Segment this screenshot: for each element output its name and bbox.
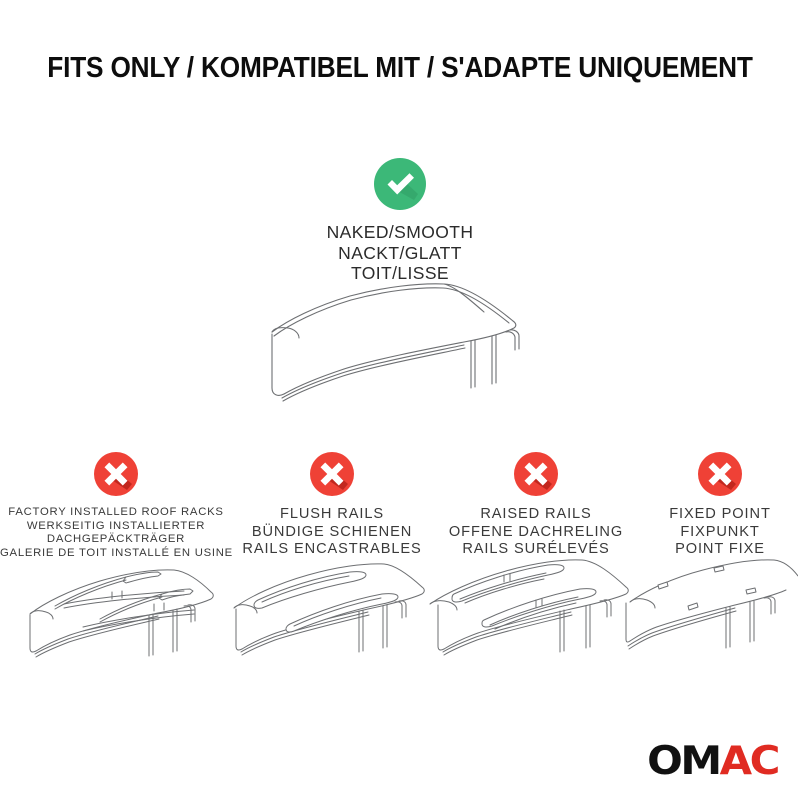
logo-text-om: OM: [647, 738, 720, 784]
omac-logo: OMAC: [647, 741, 778, 780]
compatible-label-line-1: NAKED/SMOOTH: [0, 222, 800, 243]
label-line-2: OFFENE DACHRELING: [432, 524, 640, 542]
logo-text-ac: AC: [720, 738, 778, 784]
car-roof-fixed-point-illustration: [618, 548, 798, 723]
label-line-1: FACTORY INSTALLED ROOF RACKS: [0, 506, 232, 520]
incompatible-item-flush-rails: FLUSH RAILS BÜNDIGE SCHIENEN RAILS ENCAS…: [232, 452, 432, 559]
incompatible-item-fixed-point: FIXED POINT FIXPUNKT POINT FIXE: [640, 452, 800, 559]
incompatible-row: FACTORY INSTALLED ROOF RACKS WERKSEITIG …: [0, 452, 800, 560]
car-roof-smooth-illustration: [258, 276, 558, 416]
check-circle-icon: [374, 158, 426, 210]
incompatible-item-raised-rails: RAISED RAILS OFFENE DACHRELING RAILS SUR…: [432, 452, 640, 559]
car-roof-flush-rails-illustration: [216, 548, 431, 723]
compatible-labels: NAKED/SMOOTH NACKT/GLATT TOIT/LISSE: [0, 222, 800, 284]
label-line-3: DACHGEPÄCKTRÄGER: [0, 533, 232, 547]
label-line-2: BÜNDIGE SCHIENEN: [232, 524, 432, 542]
x-circle-icon: [698, 452, 742, 496]
car-roof-factory-crossbars-illustration: [8, 548, 223, 723]
label-line-2: FIXPUNKT: [640, 524, 800, 542]
label-line-2: WERKSEITIG INSTALLIERTER: [0, 520, 232, 534]
x-circle-icon: [514, 452, 558, 496]
label-line-1: FIXED POINT: [640, 506, 800, 524]
label-line-1: RAISED RAILS: [432, 506, 640, 524]
compatible-block: NAKED/SMOOTH NACKT/GLATT TOIT/LISSE: [0, 158, 800, 284]
page-title: FITS ONLY / KOMPATIBEL MIT / S'ADAPTE UN…: [32, 52, 768, 85]
incompatible-illustrations-row: [0, 548, 800, 723]
incompatible-item-factory-installed-roof-racks: FACTORY INSTALLED ROOF RACKS WERKSEITIG …: [0, 452, 232, 560]
compatible-label-line-2: NACKT/GLATT: [0, 243, 800, 264]
x-circle-icon: [310, 452, 354, 496]
car-roof-raised-rails-illustration: [420, 548, 640, 723]
x-circle-icon: [94, 452, 138, 496]
label-line-1: FLUSH RAILS: [232, 506, 432, 524]
